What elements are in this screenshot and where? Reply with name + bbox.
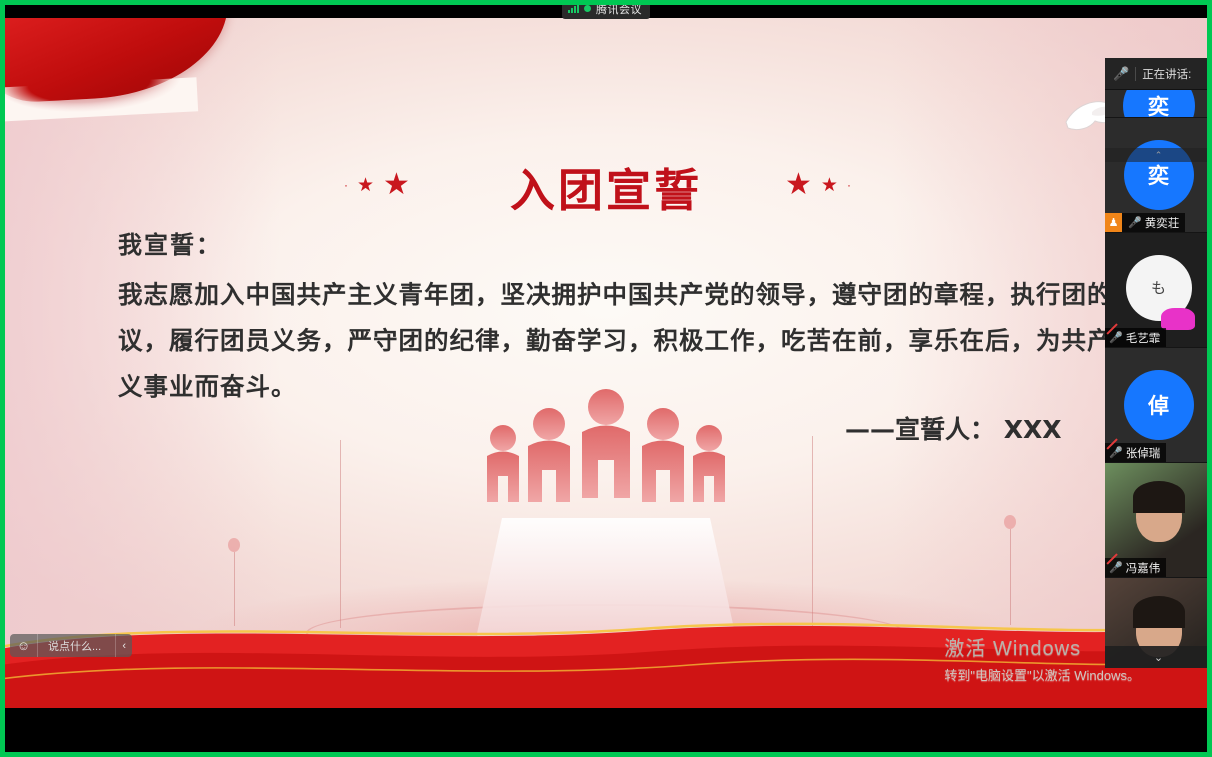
participant-tile[interactable]: 倬🎤张倬瑞 [1105,348,1212,463]
participant-hair [1133,596,1185,628]
speaking-label: 正在讲话: [1142,66,1191,82]
crowd-figures-icon [481,388,731,538]
speaking-status-header: 🎤 正在讲话: [1105,58,1212,90]
microphone-muted-icon: 🎤 [1105,446,1123,459]
oath-line: 我志愿加入中国共产主义青年团，坚决拥护中国共产党的领导，遵守团的章程，执行团的决 [118,272,1178,318]
participant-nameplate: ♟🎤黄奕荘 [1105,213,1185,232]
header-divider [1135,67,1136,81]
app-name-label: 腾讯会议 [596,1,642,17]
emoji-smiley-icon[interactable]: ☺ [10,634,38,657]
balloon-decoration [228,538,240,552]
participant-avatar: 倬 [1124,370,1194,440]
oath-text-block: 我宣誓： 我志愿加入中国共产主义青年团，坚决拥护中国共产党的领导，遵守团的章程，… [118,225,1178,410]
host-badge-icon: ♟ [1105,213,1122,232]
participant-tile[interactable]: も🎤毛艺霏 [1105,233,1212,348]
oath-line: 议，履行团员义务，严守团的纪律，勤奋学习，积极工作，吃苦在前，享乐在后，为共产主 [118,318,1178,364]
meeting-status-bar: 腾讯会议 [0,0,1212,18]
participant-tile[interactable]: 🎤冯嘉伟 [1105,463,1212,578]
oath-signature: ——宣誓人： XXX [845,410,1062,446]
oath-lead: 我宣誓： [118,225,1178,260]
meeting-status-pill[interactable]: 腾讯会议 [562,0,650,19]
avatar-decoration [1161,308,1195,330]
green-dot-icon [584,5,591,12]
meeting-stage: · ★ ★ ★ ★ · 入团宣誓 我宣誓： 我志愿加入中国共产主义青年团，坚决拥… [0,18,1212,757]
participant-tile[interactable]: 奕♟🎤黄奕荘 [1105,118,1212,233]
shared-slide: · ★ ★ ★ ★ · 入团宣誓 我宣誓： 我志愿加入中国共产主义青年团，坚决拥… [0,18,1212,708]
participant-name: 张倬瑞 [1126,445,1161,461]
participant-name: 毛艺霏 [1126,330,1161,346]
chevron-up-icon[interactable]: ⌃ [1105,148,1212,162]
participant-nameplate: 🎤冯嘉伟 [1105,558,1166,577]
participant-hair [1133,481,1185,513]
microphone-muted-icon: 🎤 [1105,561,1123,574]
slide-title: 入团宣誓 [0,154,1212,219]
participant-nameplate: 🎤张倬瑞 [1105,443,1166,462]
participant-name: 冯嘉伟 [1126,560,1161,576]
signal-icon [568,4,579,13]
chat-input-bar[interactable]: ☺ 说点什么... ‹ [10,634,132,657]
chevron-left-icon[interactable]: ‹ [115,634,132,657]
microphone-muted-icon: 🎤 [1105,331,1123,344]
chevron-down-icon[interactable]: ⌄ [1105,646,1212,668]
microphone-icon: 🎤 [1125,216,1142,229]
balloon-decoration [1004,515,1016,529]
participant-panel[interactable]: ⌃ 奕奕♟🎤黄奕荘も🎤毛艺霏倬🎤张倬瑞🎤冯嘉伟🎤李泓仪 ⌄ [1105,58,1212,668]
chat-input-placeholder[interactable]: 说点什么... [38,634,115,657]
participant-name: 黄奕荘 [1145,215,1180,231]
microphone-icon: 🎤 [1113,66,1129,82]
participant-nameplate: 🎤毛艺霏 [1105,328,1166,347]
